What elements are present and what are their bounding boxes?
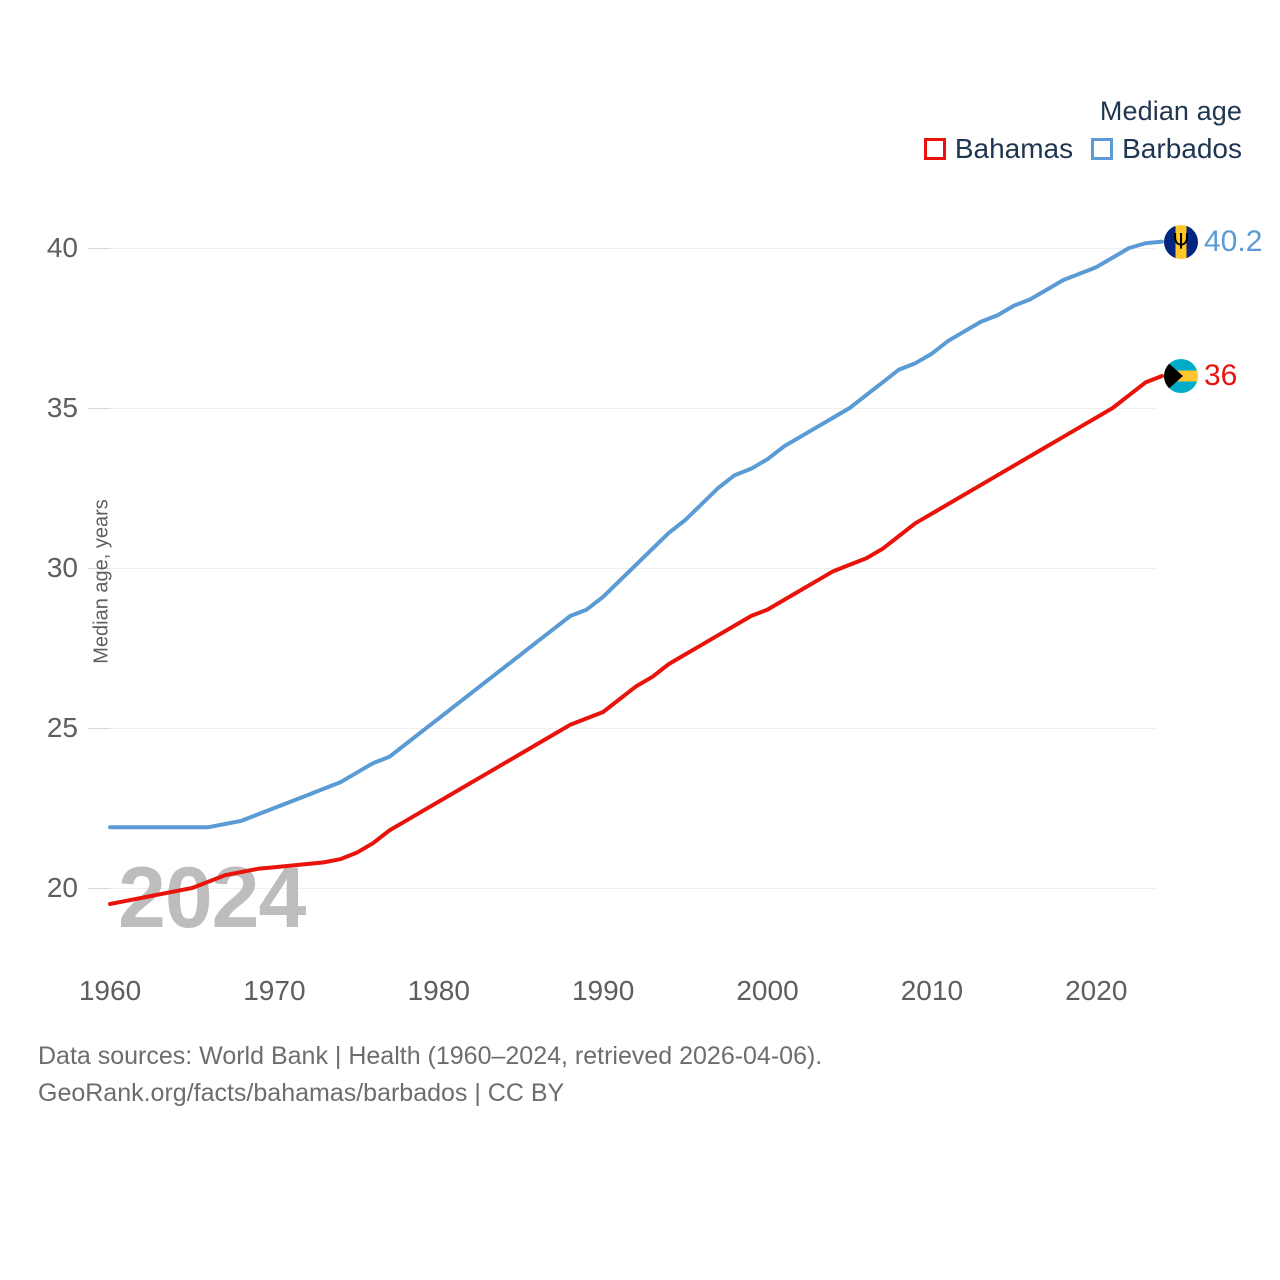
endpoint-value-barbados: 40.2 [1204, 227, 1262, 257]
endpoint-value-bahamas: 36 [1204, 361, 1237, 391]
endpoint-barbados: Ψ40.2 [1164, 225, 1262, 259]
barbados-flag-icon: Ψ [1164, 225, 1198, 259]
endpoint-bahamas: 36 [1164, 359, 1237, 393]
trident-icon: Ψ [1173, 231, 1190, 252]
median-age-chart: Median age Bahamas Barbados 2025303540 1… [0, 0, 1280, 1280]
bahamas-flag-icon [1164, 359, 1198, 393]
hoist-triangle-icon [1164, 359, 1183, 393]
line-barbados [110, 242, 1162, 828]
line-bahamas [110, 376, 1162, 904]
footer-attribution: Data sources: World Bank | Health (1960–… [38, 1038, 822, 1112]
footer-line-url[interactable]: GeoRank.org/facts/bahamas/barbados | CC … [38, 1075, 822, 1112]
footer-line-sources: Data sources: World Bank | Health (1960–… [38, 1038, 822, 1075]
